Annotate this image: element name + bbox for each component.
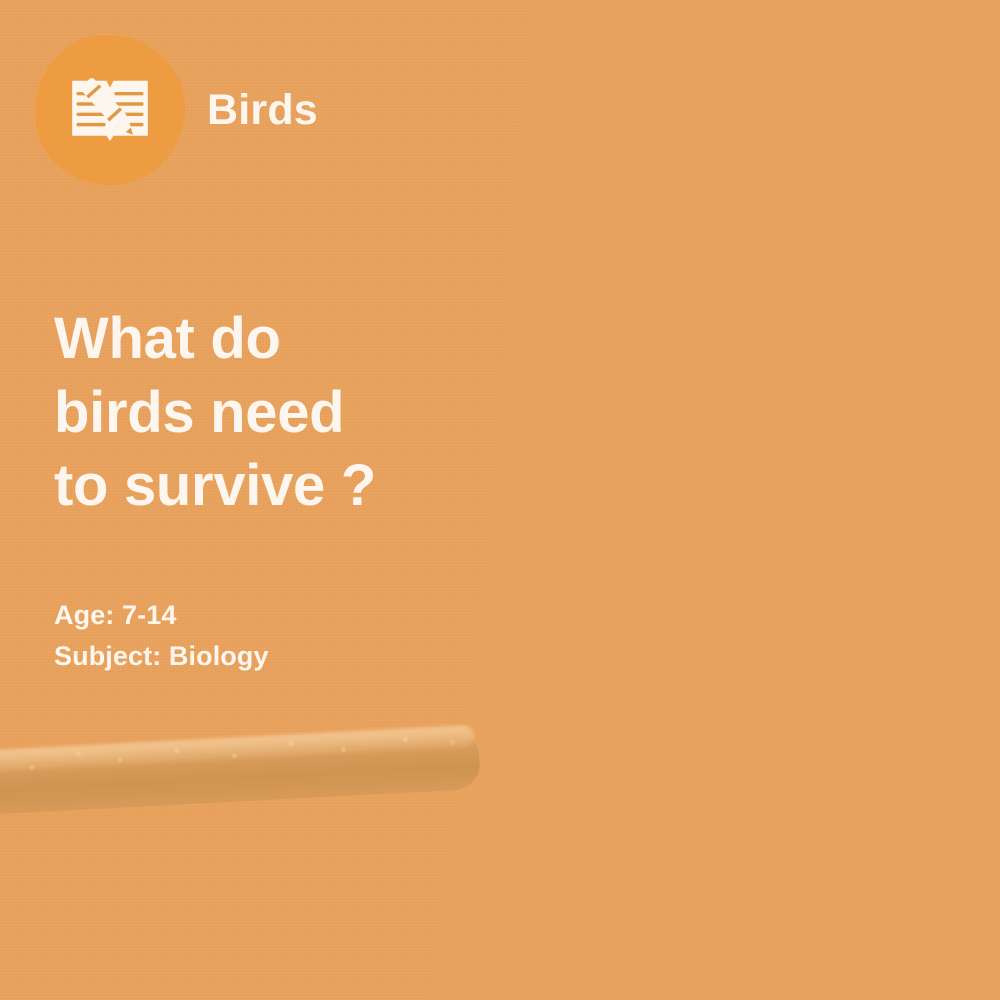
lesson-card: Birds What do birds need to survive ? Ag…	[0, 0, 1000, 1000]
page-title: What do birds need to survive ?	[54, 302, 484, 523]
meta-age: Age: 7-14	[54, 595, 269, 636]
lesson-meta: Age: 7-14 Subject: Biology	[54, 595, 269, 677]
brand-row[interactable]: Birds	[35, 35, 318, 185]
brand-title: Birds	[207, 89, 318, 132]
card-content: Birds What do birds need to survive ? Ag…	[0, 0, 520, 1000]
brand-badge	[35, 35, 185, 185]
meta-subject: Subject: Biology	[54, 636, 269, 677]
notebook-pencil-icon	[67, 67, 153, 153]
